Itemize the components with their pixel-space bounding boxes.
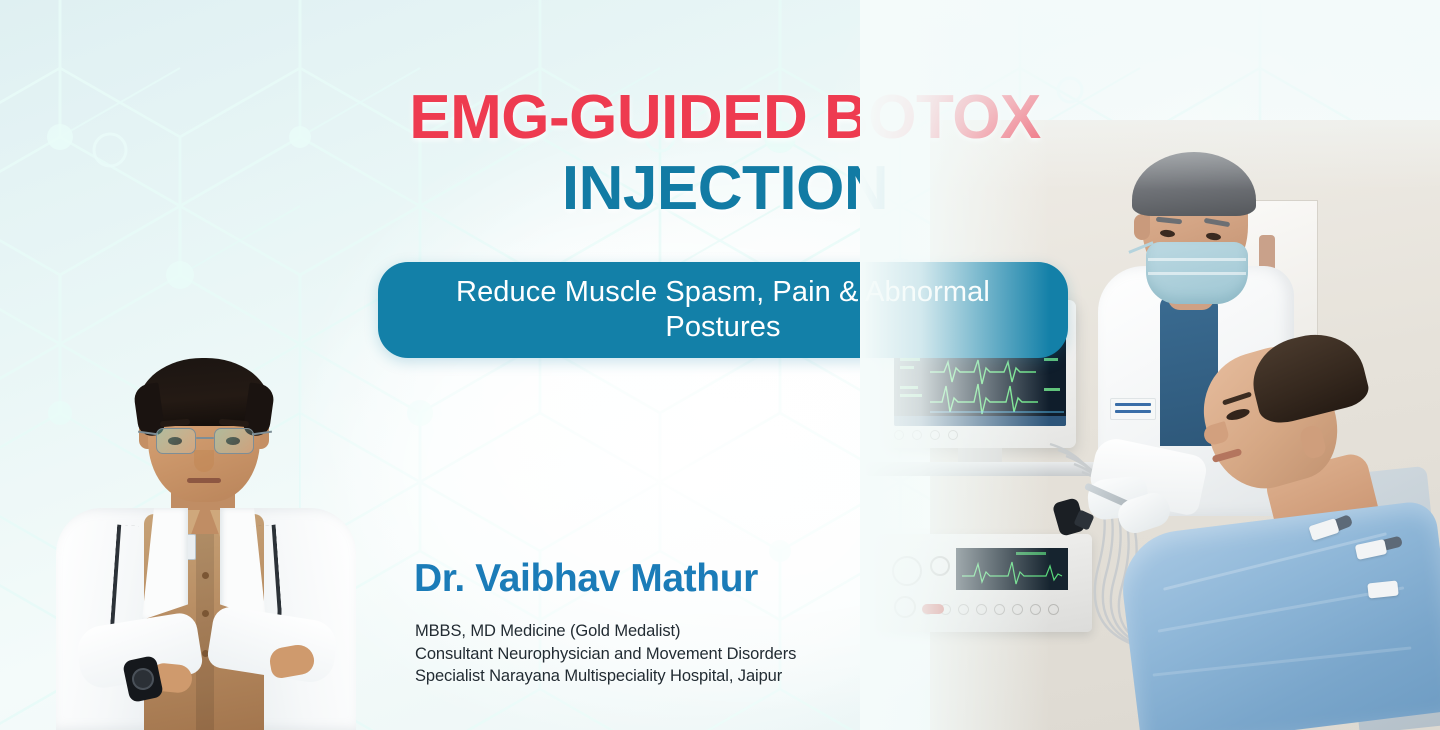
emg-dial[interactable] [930, 556, 950, 576]
subheading-pill: Reduce Muscle Spasm, Pain & Abnormal Pos… [378, 262, 1068, 358]
physician-name-badge [1110, 398, 1156, 420]
credential-line-1: MBBS, MD Medicine (Gold Medalist) [415, 620, 796, 643]
emg-dial[interactable] [894, 596, 916, 618]
eyeglasses-lens-left [156, 428, 196, 454]
emg-record-button[interactable] [922, 604, 944, 614]
shirt-button [202, 572, 209, 579]
eyeglasses-lens-right [214, 428, 254, 454]
mouth [187, 478, 221, 483]
surgical-mask-pleat [1148, 272, 1246, 275]
banner-root: EMG-GUIDED BOTOX INJECTION Reduce Muscle… [0, 0, 1440, 730]
doctor-name: Dr. Vaibhav Mathur [414, 556, 758, 602]
doctor-portrait-photo [38, 358, 368, 730]
ecg-electrode-pad [1367, 580, 1398, 598]
clinical-scene-imagery [860, 0, 1440, 730]
physician-ear [1134, 214, 1150, 240]
credential-line-3: Specialist Narayana Multispeciality Hosp… [415, 665, 796, 688]
patient-hospital-gown [1116, 499, 1440, 730]
subheading-text: Reduce Muscle Spasm, Pain & Abnormal Pos… [378, 275, 1068, 345]
shirt-button [202, 610, 209, 617]
emg-dial[interactable] [892, 556, 922, 586]
doctor-credentials: MBBS, MD Medicine (Gold Medalist) Consul… [415, 620, 796, 688]
surgical-mask-pleat [1148, 258, 1246, 261]
credential-line-2: Consultant Neurophysician and Movement D… [415, 643, 796, 666]
nose [194, 450, 214, 472]
monitor-control-knobs[interactable] [894, 430, 980, 444]
